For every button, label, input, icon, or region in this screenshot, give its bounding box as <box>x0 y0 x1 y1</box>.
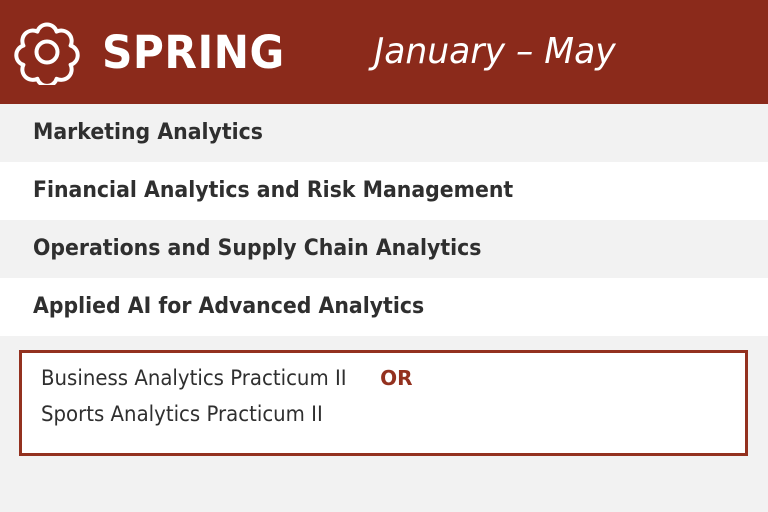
choice-option-row: Business Analytics Practicum II OR <box>41 367 745 403</box>
spring-semester-course-card: SPRING January – May Marketing Analytics… <box>0 0 768 512</box>
practicum-choice-box: Business Analytics Practicum II OR Sport… <box>19 350 748 456</box>
flower-icon <box>14 19 80 85</box>
or-label: OR <box>380 367 412 389</box>
choice-option-row: Sports Analytics Practicum II <box>41 403 745 439</box>
course-name: Applied AI for Advanced Analytics <box>33 295 424 319</box>
season-date-range: January – May <box>374 34 616 70</box>
course-row: Marketing Analytics <box>0 104 768 162</box>
choice-option-name: Business Analytics Practicum II <box>41 367 347 390</box>
course-name: Marketing Analytics <box>33 121 263 145</box>
course-list: Marketing Analytics Financial Analytics … <box>0 104 768 336</box>
season-header: SPRING January – May <box>0 0 768 104</box>
course-name: Financial Analytics and Risk Management <box>33 179 513 203</box>
course-name: Operations and Supply Chain Analytics <box>33 237 481 261</box>
course-row: Applied AI for Advanced Analytics <box>0 278 768 336</box>
course-row: Financial Analytics and Risk Management <box>0 162 768 220</box>
course-row: Operations and Supply Chain Analytics <box>0 220 768 278</box>
choice-option-name: Sports Analytics Practicum II <box>41 403 323 426</box>
season-title: SPRING <box>102 30 285 75</box>
